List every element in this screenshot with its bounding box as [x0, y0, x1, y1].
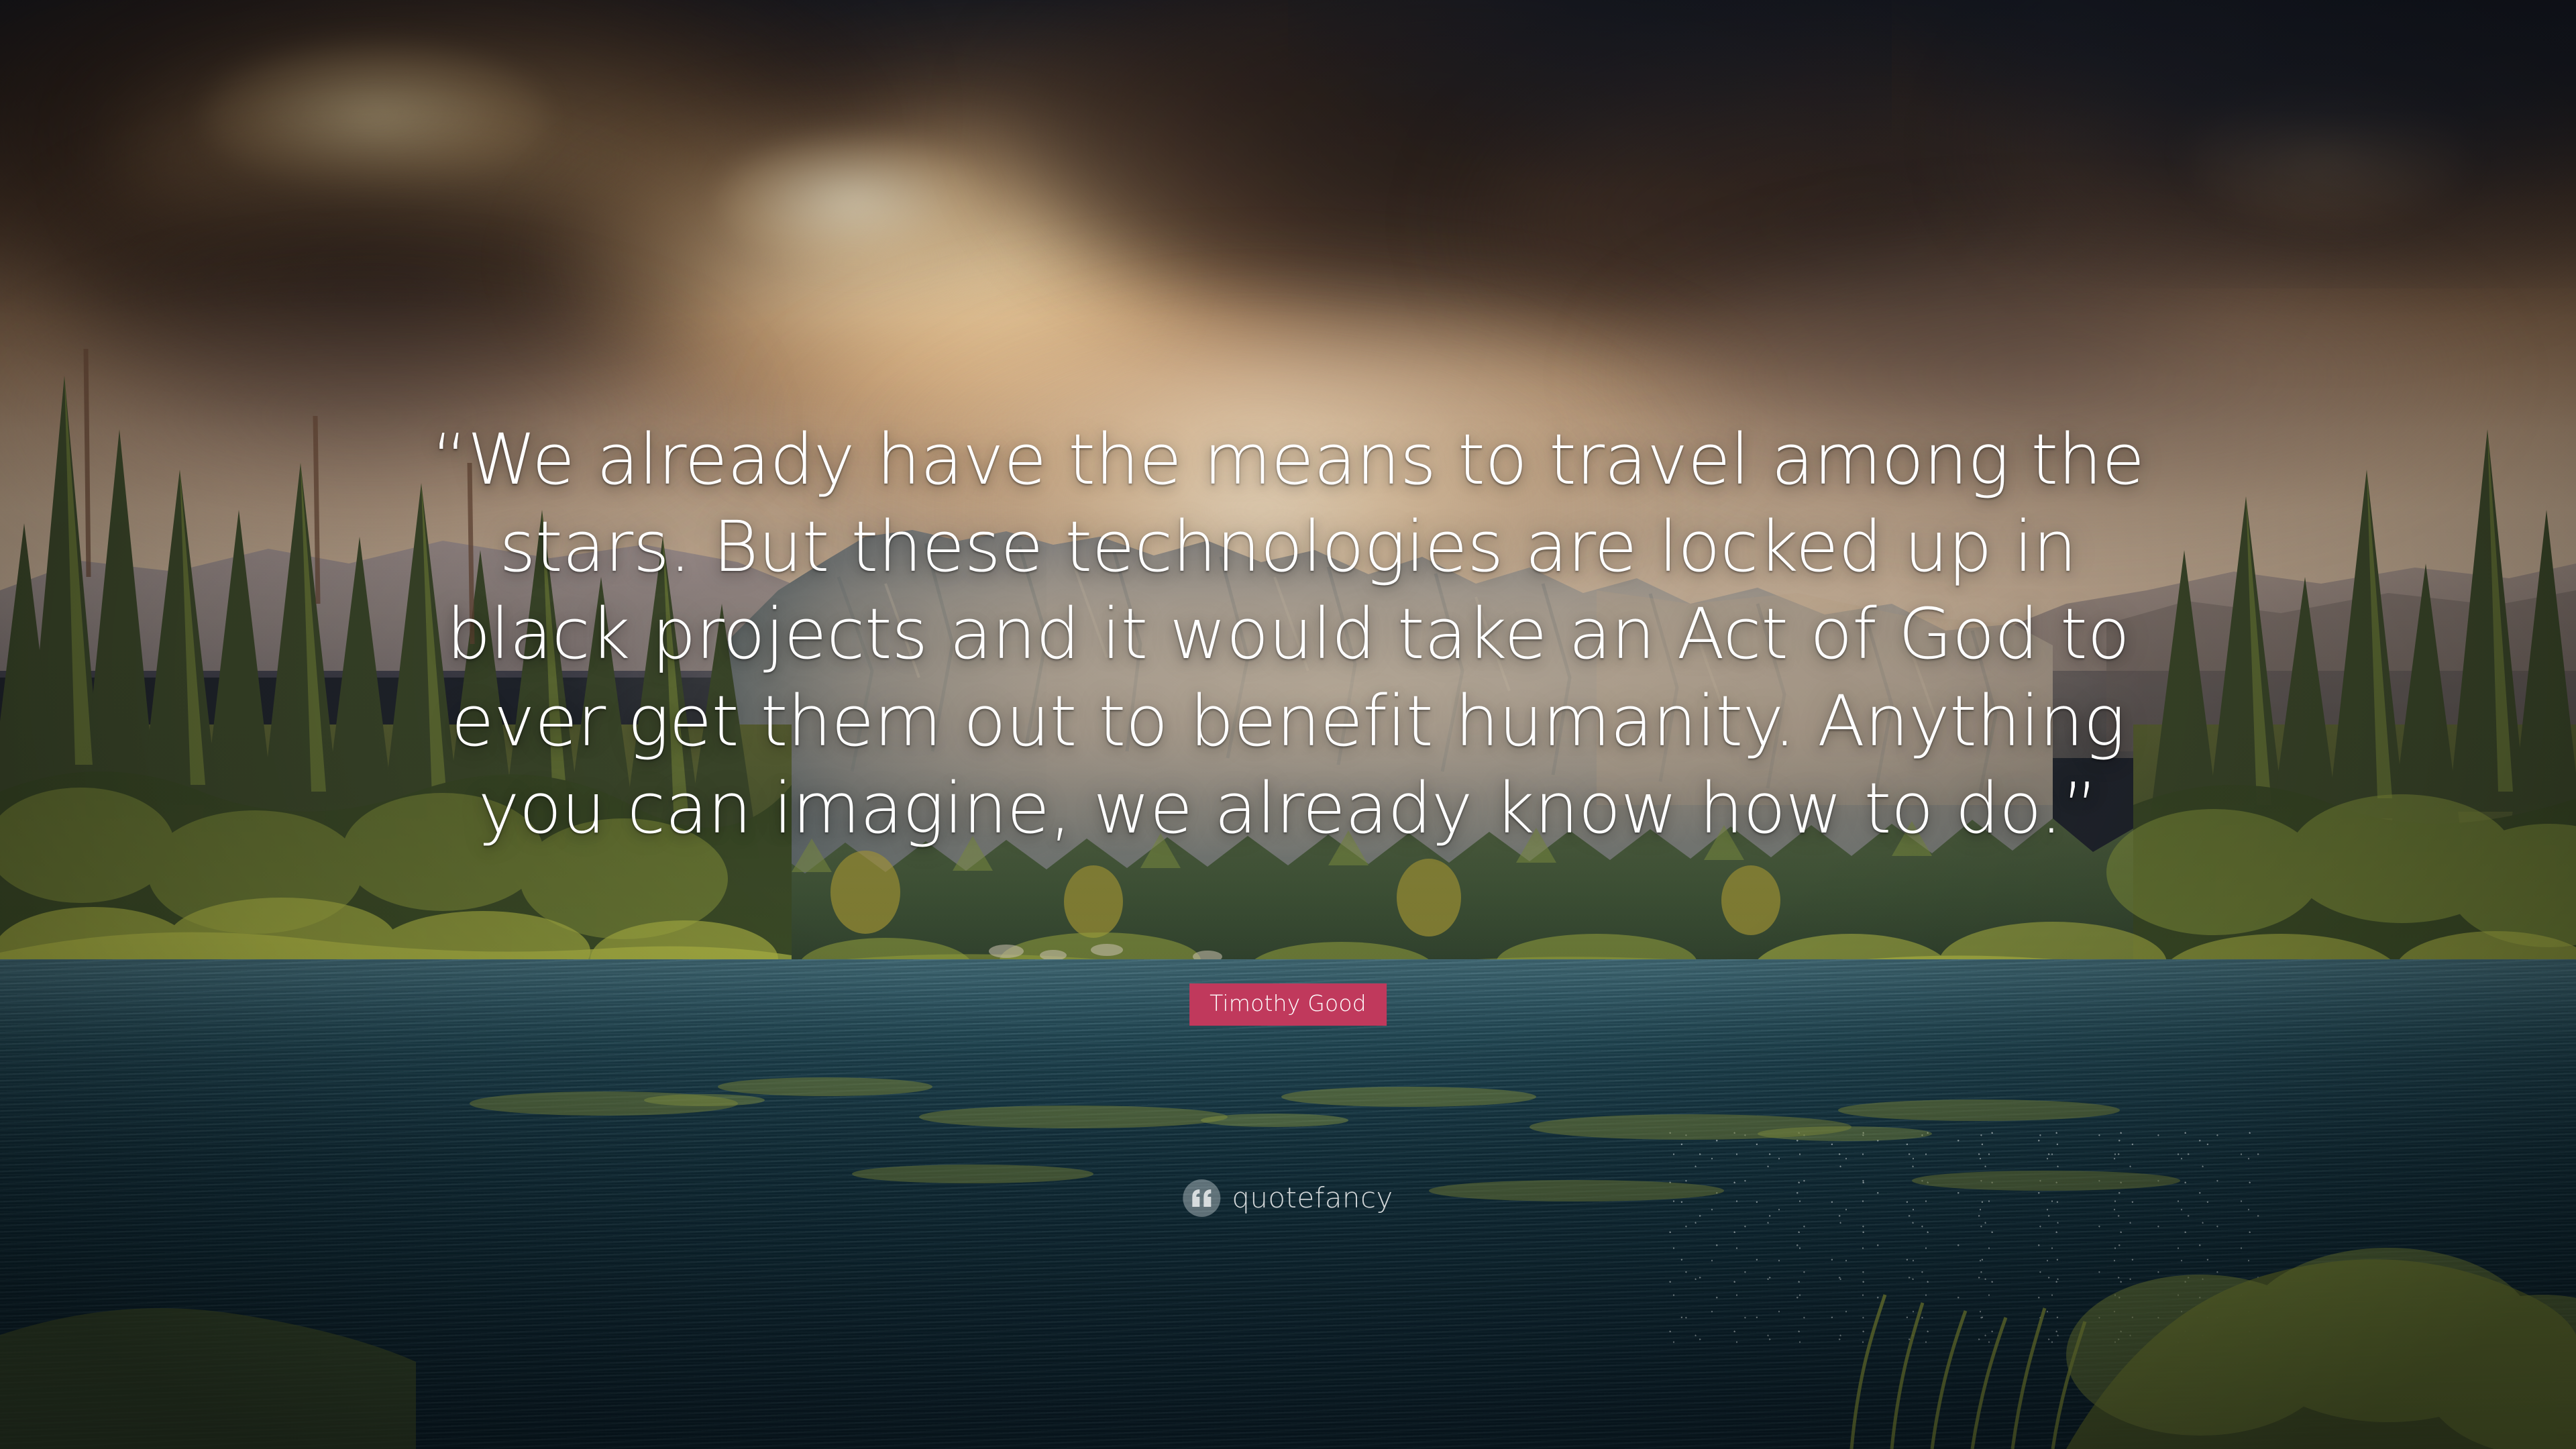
quotefancy-brand-text: quotefancy — [1232, 1183, 1393, 1214]
quote-block: “We already have the means to travel amo… — [409, 416, 2167, 852]
author-attribution: Timothy Good — [1189, 983, 1387, 1026]
author-name-badge: Timothy Good — [1189, 983, 1387, 1026]
quotefancy-watermark: quotefancy — [1183, 1179, 1393, 1217]
quotation-mark-icon — [1183, 1179, 1220, 1217]
quote-text: “We already have the means to travel amo… — [409, 416, 2167, 852]
wallpaper-canvas: “We already have the means to travel amo… — [0, 0, 2576, 1449]
